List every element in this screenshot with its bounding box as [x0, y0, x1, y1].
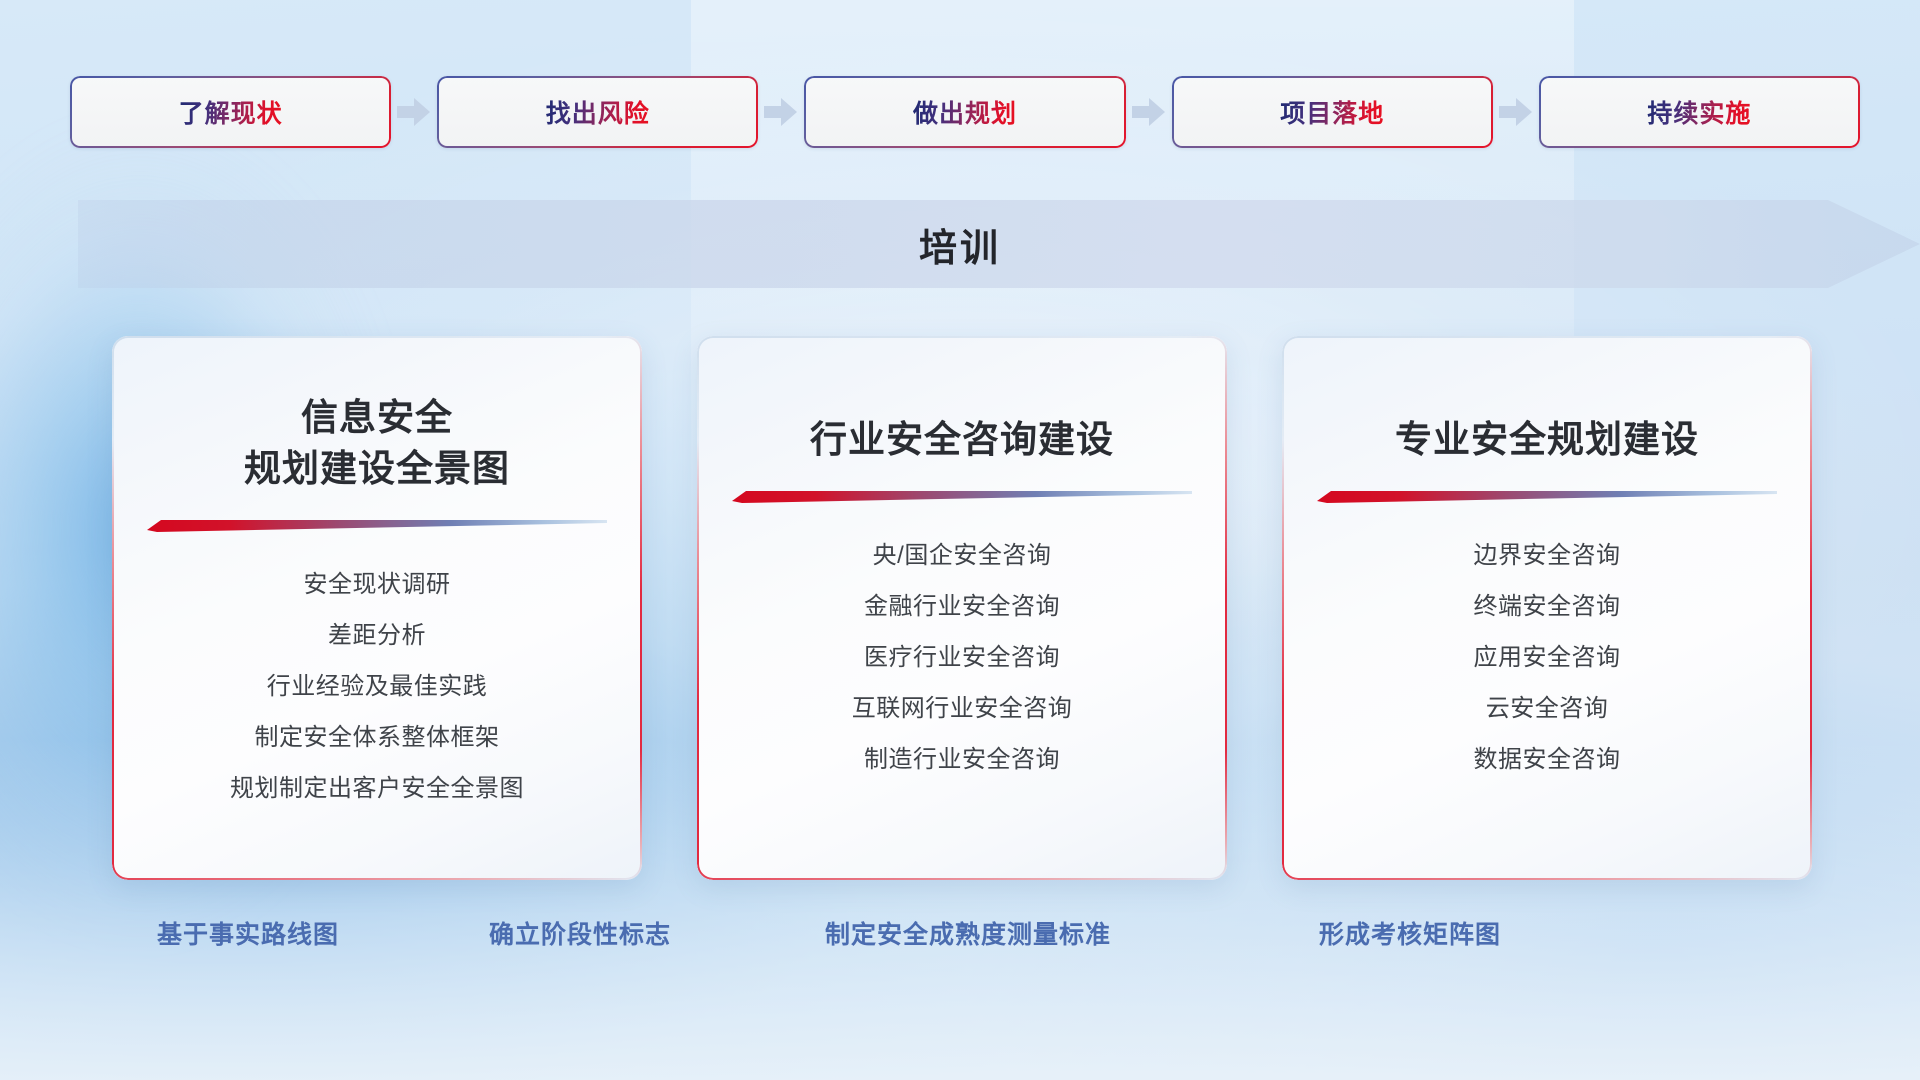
card-list-item: 应用安全咨询 — [1474, 637, 1621, 672]
process-arrow-4 — [1493, 95, 1539, 129]
footer-label-row: 基于事实路线图确立阶段性标志制定安全成熟度测量标准形成考核矩阵图 — [0, 915, 1920, 959]
arrow-right-icon — [1132, 97, 1166, 127]
card-content: 专业安全规划建设边界安全咨询终端安全咨询应用安全咨询云安全咨询数据安全咨询 — [1282, 336, 1812, 880]
card-list-item: 行业经验及最佳实践 — [267, 666, 488, 701]
card-content: 行业安全咨询建设央/国企安全咨询金融行业安全咨询医疗行业安全咨询互联网行业安全咨… — [697, 336, 1227, 880]
card-content: 信息安全 规划建设全景图安全现状调研差距分析行业经验及最佳实践制定安全体系整体框… — [112, 336, 642, 880]
card-title: 专业安全规划建设 — [1395, 414, 1699, 465]
service-card-1[interactable]: 信息安全 规划建设全景图安全现状调研差距分析行业经验及最佳实践制定安全体系整体框… — [112, 336, 642, 880]
process-step-5[interactable]: 持续实施 — [1539, 76, 1860, 148]
footer-label-4: 形成考核矩阵图 — [1319, 915, 1501, 951]
card-list-item: 终端安全咨询 — [1474, 586, 1621, 621]
footer-label-1: 基于事实路线图 — [157, 915, 339, 951]
training-banner: 培训 — [0, 200, 1920, 288]
process-step-row: 了解现状找出风险做出规划项目落地持续实施 — [70, 76, 1860, 148]
process-arrow-2 — [758, 95, 804, 129]
card-list-item: 互联网行业安全咨询 — [852, 688, 1073, 723]
card-divider — [147, 518, 607, 534]
card-list-item: 边界安全咨询 — [1474, 535, 1621, 570]
card-title: 信息安全 规划建设全景图 — [244, 392, 510, 494]
card-divider — [1317, 489, 1777, 505]
card-title: 行业安全咨询建设 — [810, 414, 1114, 465]
arrow-right-icon — [397, 97, 431, 127]
service-card-3[interactable]: 专业安全规划建设边界安全咨询终端安全咨询应用安全咨询云安全咨询数据安全咨询 — [1282, 336, 1812, 880]
card-list-item: 制定安全体系整体框架 — [255, 717, 500, 752]
card-list-item: 央/国企安全咨询 — [873, 535, 1052, 570]
card-list-item: 云安全咨询 — [1486, 688, 1609, 723]
process-step-2[interactable]: 找出风险 — [437, 76, 758, 148]
footer-label-3: 制定安全成熟度测量标准 — [825, 915, 1111, 951]
card-list-item: 安全现状调研 — [304, 564, 451, 599]
process-step-3[interactable]: 做出规划 — [804, 76, 1125, 148]
arrow-right-icon — [764, 97, 798, 127]
arrow-right-icon — [1499, 97, 1533, 127]
process-step-4[interactable]: 项目落地 — [1172, 76, 1493, 148]
card-list-item: 金融行业安全咨询 — [864, 586, 1060, 621]
card-row: 信息安全 规划建设全景图安全现状调研差距分析行业经验及最佳实践制定安全体系整体框… — [112, 336, 1812, 880]
process-step-label: 了解现状 — [179, 94, 283, 130]
process-step-label: 做出规划 — [913, 94, 1017, 130]
card-item-list: 安全现状调研差距分析行业经验及最佳实践制定安全体系整体框架规划制定出客户安全全景… — [230, 564, 524, 803]
card-list-item: 规划制定出客户安全全景图 — [230, 768, 524, 803]
footer-label-2: 确立阶段性标志 — [489, 915, 671, 951]
card-item-list: 边界安全咨询终端安全咨询应用安全咨询云安全咨询数据安全咨询 — [1474, 535, 1621, 774]
process-arrow-1 — [391, 95, 437, 129]
card-list-item: 数据安全咨询 — [1474, 739, 1621, 774]
process-step-label: 项目落地 — [1280, 94, 1384, 130]
card-list-item: 制造行业安全咨询 — [864, 739, 1060, 774]
card-list-item: 差距分析 — [328, 615, 426, 650]
card-item-list: 央/国企安全咨询金融行业安全咨询医疗行业安全咨询互联网行业安全咨询制造行业安全咨… — [852, 535, 1073, 774]
training-banner-label: 培训 — [0, 200, 1920, 288]
process-step-label: 找出风险 — [546, 94, 650, 130]
process-step-label: 持续实施 — [1647, 94, 1751, 130]
card-list-item: 医疗行业安全咨询 — [864, 637, 1060, 672]
process-step-1[interactable]: 了解现状 — [70, 76, 391, 148]
card-divider — [732, 489, 1192, 505]
service-card-2[interactable]: 行业安全咨询建设央/国企安全咨询金融行业安全咨询医疗行业安全咨询互联网行业安全咨… — [697, 336, 1227, 880]
process-arrow-3 — [1126, 95, 1172, 129]
